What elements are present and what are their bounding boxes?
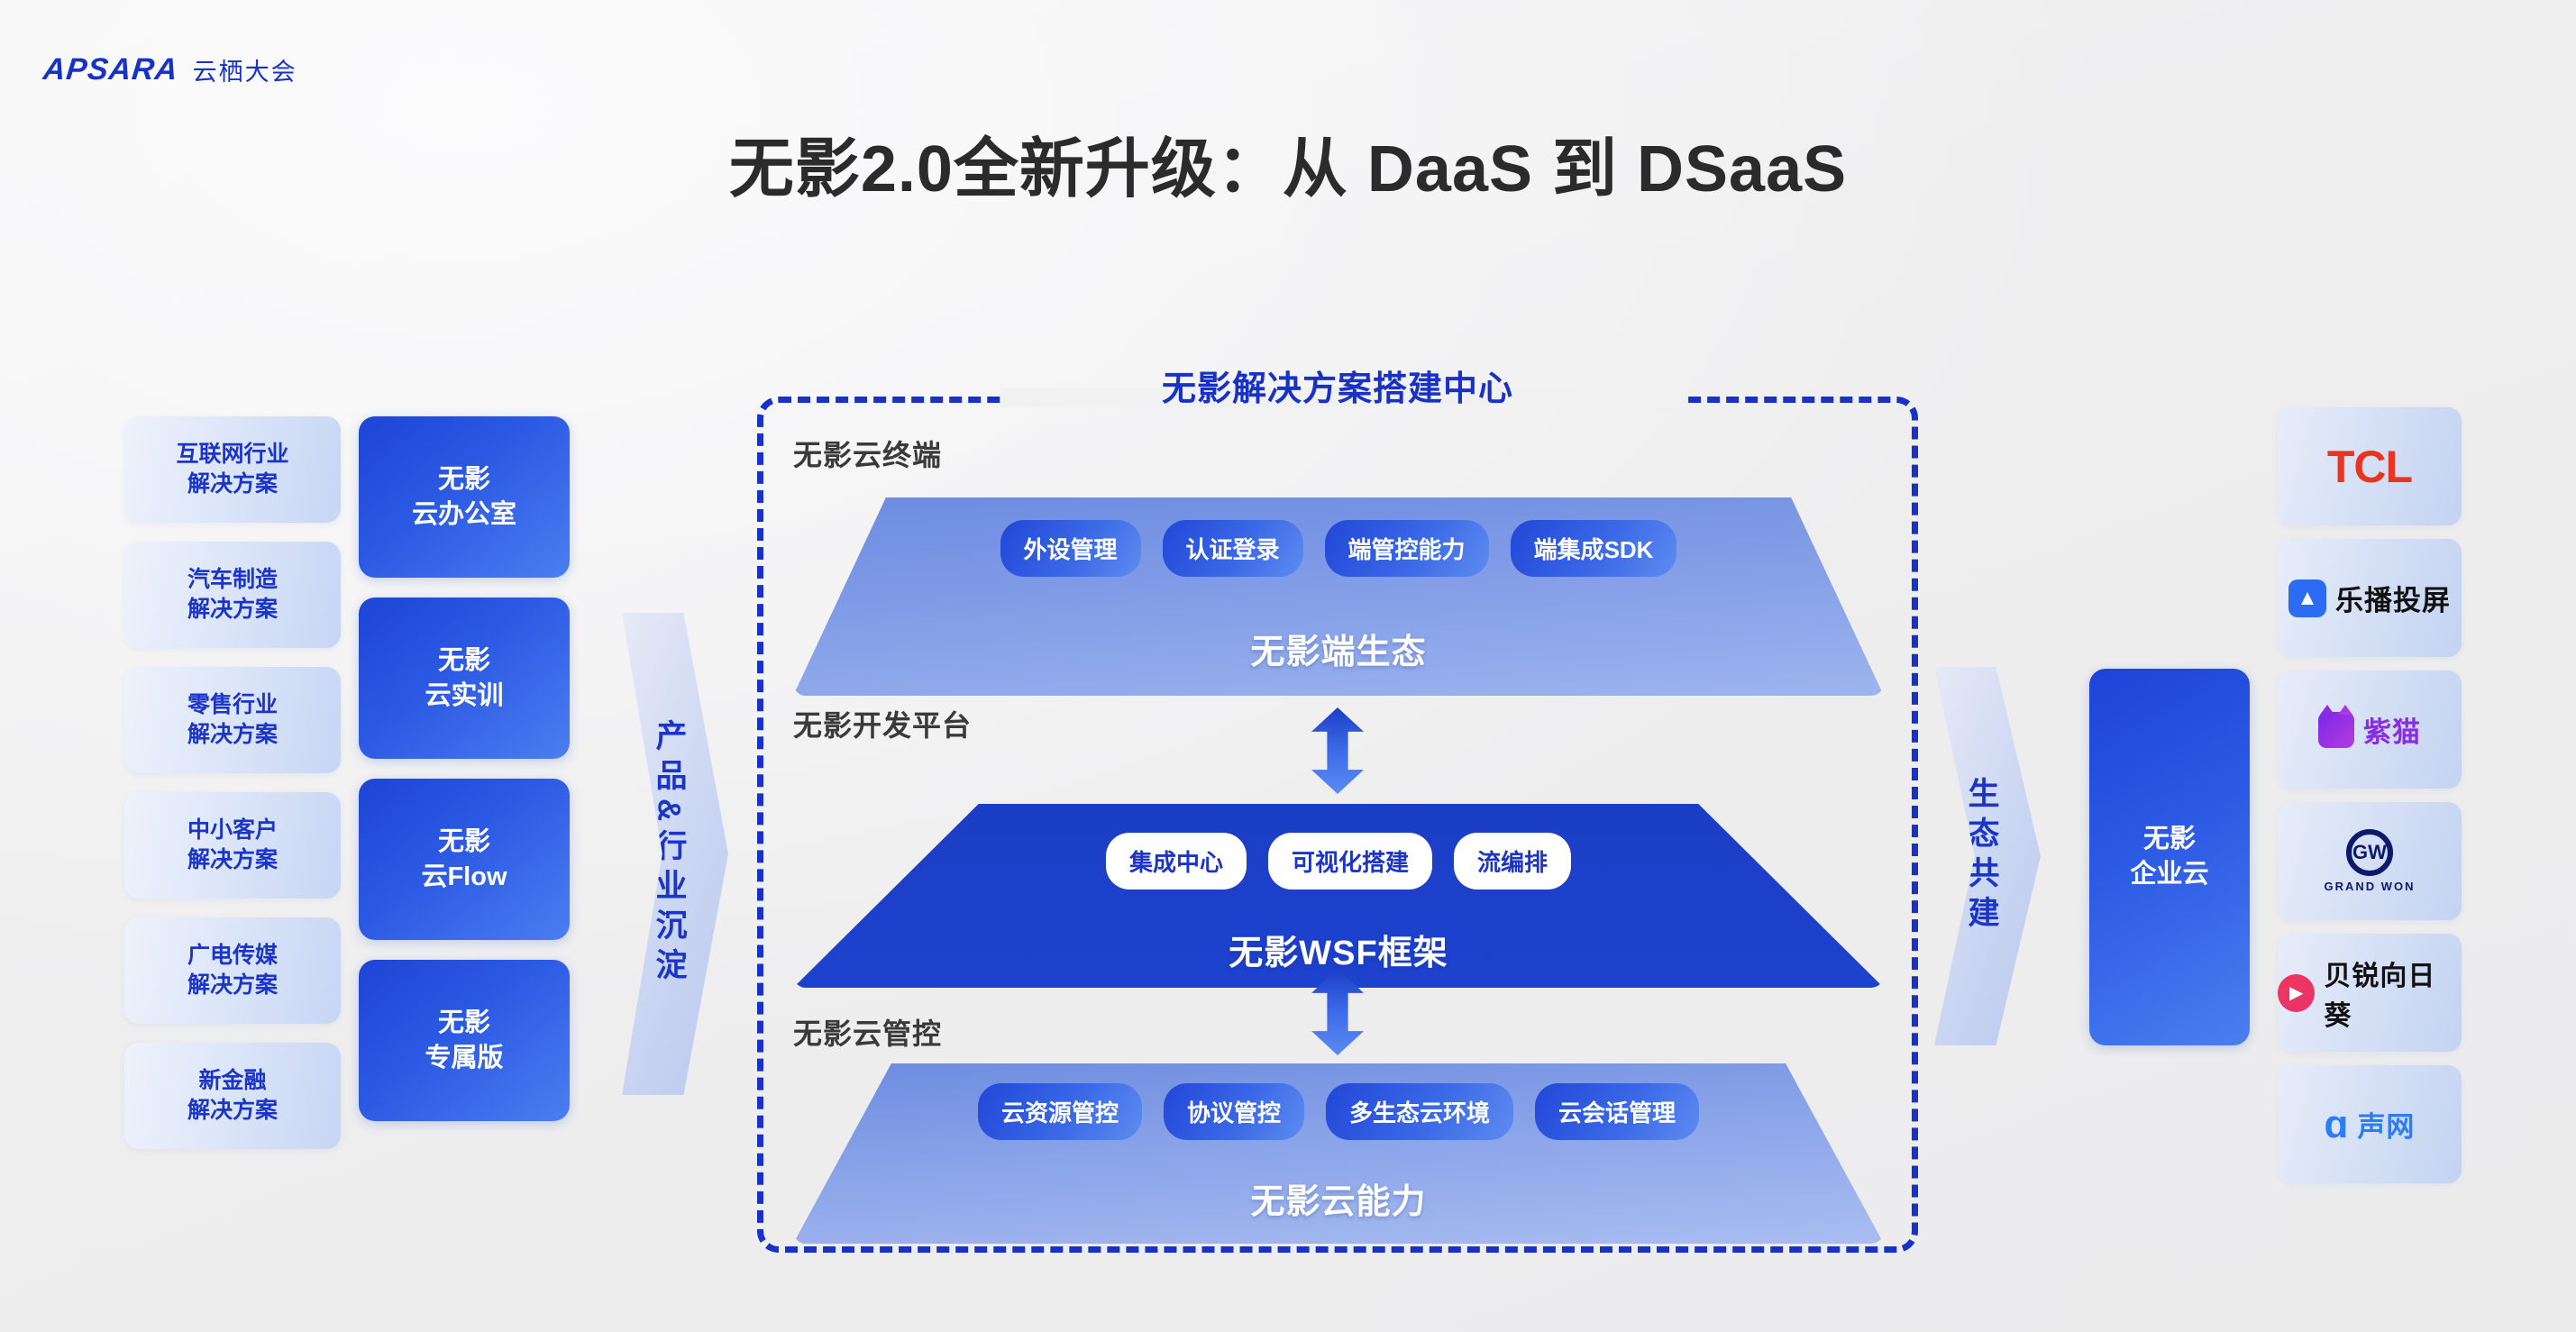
product-card[interactable]: 无影 云办公室 xyxy=(359,416,570,578)
left-arrow-label: 产品&行业沉淀 xyxy=(646,719,692,988)
product-line2: 专属版 xyxy=(425,1041,503,1076)
page-title: 无影2.0全新升级：从 DaaS 到 DSaaS xyxy=(0,115,2576,210)
arrow-down-icon xyxy=(1311,1012,1364,1055)
layer-terminal-ecosystem: 外设管理 认证登录 端管控能力 端集成SDK 无影端生态 xyxy=(793,497,1884,696)
agora-logo-icon: ɑ xyxy=(2325,1105,2349,1145)
solution-card[interactable]: 互联网行业 解决方案 xyxy=(124,416,341,523)
solution-card[interactable]: 零售行业 解决方案 xyxy=(124,667,341,773)
solution-line2: 解决方案 xyxy=(187,470,278,499)
product-line1: 无影 xyxy=(438,643,490,679)
capability-pill[interactable]: 协议管控 xyxy=(1164,1083,1304,1140)
zimao-logo-icon xyxy=(2318,712,2354,748)
product-line2: 云实训 xyxy=(425,679,503,714)
solutions-column: 互联网行业 解决方案 汽车制造 解决方案 零售行业 解决方案 中小客户 解决方案… xyxy=(124,416,341,1149)
product-line1: 无影 xyxy=(438,1006,490,1041)
double-arrow-icon xyxy=(1311,707,1364,794)
capability-pill[interactable]: 端管控能力 xyxy=(1325,520,1489,577)
partner-card[interactable]: 紫猫 xyxy=(2278,671,2462,789)
partner-card[interactable]: GW GRAND WON xyxy=(2278,802,2462,920)
product-line2: 云办公室 xyxy=(412,497,516,533)
partner-card[interactable]: ɑ 声网 xyxy=(2278,1065,2462,1183)
tcl-logo-icon: TCL xyxy=(2327,441,2412,493)
partner-name: GRAND WON xyxy=(2324,880,2415,893)
product-line1: 无影 xyxy=(438,825,490,860)
sunlogin-logo-icon: ▶ xyxy=(2278,974,2315,1012)
capability-pill[interactable]: 认证登录 xyxy=(1163,520,1303,577)
terminal-pill-row: 外设管理 认证登录 端管控能力 端集成SDK xyxy=(793,520,1884,577)
product-line2: 云Flow xyxy=(421,860,507,895)
products-column: 无影 云办公室 无影 云实训 无影 云Flow 无影 专属版 xyxy=(359,416,570,1121)
layer-cloud-capability: 云资源管控 协议管控 多生态云环境 云会话管理 无影云能力 xyxy=(793,1063,1884,1244)
apsara-wordmark: APSARA xyxy=(41,52,180,87)
layer-name-terminal: 无影端生态 xyxy=(793,624,1884,673)
solution-card[interactable]: 汽车制造 解决方案 xyxy=(124,542,341,648)
apsara-chinese-name: 云栖大会 xyxy=(193,52,297,87)
solution-line1: 汽车制造 xyxy=(187,565,278,595)
grandwon-mark: GW xyxy=(2346,829,2393,876)
product-card[interactable]: 无影 云实训 xyxy=(359,598,570,759)
solution-line1: 新金融 xyxy=(198,1066,266,1096)
capability-pill[interactable]: 外设管理 xyxy=(1000,520,1141,577)
product-card[interactable]: 无影 云Flow xyxy=(359,779,570,940)
wsf-pill-row: 集成中心 可视化搭建 流编排 xyxy=(793,833,1884,890)
capability-pill[interactable]: 云会话管理 xyxy=(1535,1083,1699,1140)
layer-name-wsf: 无影WSF框架 xyxy=(793,925,1884,974)
arrow-up-icon xyxy=(1311,969,1364,1012)
solution-line1: 中小客户 xyxy=(187,816,278,845)
solution-line1: 互联网行业 xyxy=(176,440,288,470)
slide-canvas: APSARA 云栖大会 无影2.0全新升级：从 DaaS 到 DSaaS 互联网… xyxy=(0,0,2576,1332)
partner-name: 声网 xyxy=(2357,1104,2415,1145)
arrow-up-icon xyxy=(1311,707,1364,751)
right-chevron-arrow: 生态共建 xyxy=(1934,667,2041,1045)
capability-pill[interactable]: 可视化搭建 xyxy=(1268,833,1432,890)
enterprise-line1: 无影 xyxy=(2143,822,2196,857)
solution-line2: 解决方案 xyxy=(187,845,278,875)
capability-pill[interactable]: 集成中心 xyxy=(1106,833,1247,890)
layer-wsf-framework: 集成中心 可视化搭建 流编排 无影WSF框架 xyxy=(793,804,1884,988)
right-arrow-label: 生态共建 xyxy=(1959,777,2005,935)
arrow-down-icon xyxy=(1311,751,1364,794)
partner-name: 紫猫 xyxy=(2363,709,2421,750)
solution-line2: 解决方案 xyxy=(187,720,278,750)
capability-pill[interactable]: 端集成SDK xyxy=(1511,520,1677,577)
solution-line1: 广电传媒 xyxy=(187,941,278,971)
partner-name: 乐播投屏 xyxy=(2335,578,2451,618)
layer-label-cloud-management: 无影云管控 xyxy=(793,1011,942,1053)
enterprise-line2: 企业云 xyxy=(2130,857,2208,892)
solution-card[interactable]: 新金融 解决方案 xyxy=(124,1043,341,1149)
partners-column: TCL ▲ 乐播投屏 紫猫 GW GRAND WON ▶ 贝锐向日葵 ɑ 声网 xyxy=(2278,407,2462,1183)
left-chevron-arrow: 产品&行业沉淀 xyxy=(622,613,728,1095)
partner-card[interactable]: TCL xyxy=(2278,407,2462,525)
solution-card[interactable]: 中小客户 解决方案 xyxy=(124,792,341,899)
solution-card[interactable]: 广电传媒 解决方案 xyxy=(124,917,341,1024)
apsara-logo: APSARA 云栖大会 xyxy=(43,52,297,87)
product-card[interactable]: 无影 专属版 xyxy=(359,960,570,1121)
solution-line1: 零售行业 xyxy=(187,690,278,720)
partner-name: 贝锐向日葵 xyxy=(2324,953,2462,1033)
partner-card[interactable]: ▲ 乐播投屏 xyxy=(2278,539,2462,657)
grandwon-logo-icon: GW GRAND WON xyxy=(2324,829,2415,893)
product-line1: 无影 xyxy=(438,462,490,497)
capability-pill[interactable]: 多生态云环境 xyxy=(1326,1083,1513,1140)
solution-line2: 解决方案 xyxy=(187,595,278,625)
layer-label-dev-platform: 无影开发平台 xyxy=(793,703,972,744)
cloud-pill-row: 云资源管控 协议管控 多生态云环境 云会话管理 xyxy=(793,1083,1884,1140)
solution-line2: 解决方案 xyxy=(187,1096,278,1126)
partner-card[interactable]: ▶ 贝锐向日葵 xyxy=(2278,934,2462,1052)
center-panel-title: 无影解决方案搭建中心 xyxy=(757,360,1918,410)
capability-pill[interactable]: 流编排 xyxy=(1454,833,1571,890)
double-arrow-icon xyxy=(1311,969,1364,1055)
lebo-logo-icon: ▲ xyxy=(2288,579,2326,617)
capability-pill[interactable]: 云资源管控 xyxy=(978,1083,1142,1140)
solution-line2: 解决方案 xyxy=(187,971,278,1000)
enterprise-cloud-card[interactable]: 无影 企业云 xyxy=(2089,669,2250,1045)
layer-name-cloud: 无影云能力 xyxy=(793,1173,1884,1223)
layer-label-terminal: 无影云终端 xyxy=(793,433,942,474)
